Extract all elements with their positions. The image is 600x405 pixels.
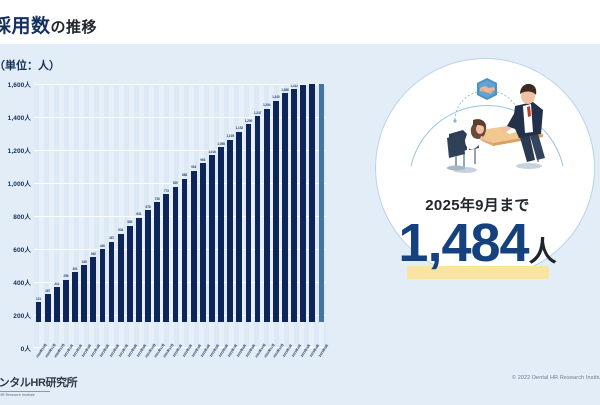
chart-bar[interactable] <box>81 265 87 322</box>
chart-bar[interactable] <box>209 155 215 322</box>
chair-left <box>447 134 465 171</box>
chart-block: （単位：人） 0人200人400人600人800人1,000人1,200人1,4… <box>0 44 350 369</box>
bar-slot: 631 <box>134 84 143 322</box>
y-axis-tick: 200人 <box>13 310 31 320</box>
chart-y-axis: 0人200人400人600人800人1,000人1,200人1,400人1,60… <box>0 84 34 348</box>
header-band: 採用数の推移 <box>0 0 600 44</box>
bar-value-label: 1,340 <box>272 95 279 99</box>
bar-value-label: 583 <box>127 220 132 224</box>
bar-value-label: 1,294 <box>263 103 270 107</box>
handshake-icon <box>477 78 497 100</box>
bar-slot: 1,152 <box>235 84 244 322</box>
bar-slot: 1,484 <box>317 84 326 322</box>
bar-slot: 212 <box>52 84 61 322</box>
chart-bar[interactable] <box>90 257 96 322</box>
y-axis-tick: 1,600人 <box>8 79 31 89</box>
chart-bar[interactable] <box>246 124 252 322</box>
bar-value-label: 1,105 <box>226 134 233 138</box>
bar-value-label: 678 <box>146 205 151 209</box>
bar-slot: 726 <box>153 84 162 322</box>
chart-bar[interactable] <box>118 234 124 322</box>
chart-bar[interactable] <box>182 179 188 322</box>
bar-value-label: 773 <box>164 189 169 193</box>
chart-bar[interactable] <box>36 302 42 322</box>
chart-bar[interactable] <box>282 93 288 322</box>
chart-bar[interactable] <box>200 163 206 322</box>
bar-value-label: 1,152 <box>236 126 243 130</box>
chart-bar[interactable] <box>54 287 60 322</box>
bar-value-label: 1,010 <box>208 150 215 154</box>
bar-slot: 1,058 <box>217 84 226 322</box>
bar-value-label: 534 <box>118 228 123 232</box>
page-title-sub: の推移 <box>51 19 98 36</box>
y-axis-tick: 1,000人 <box>8 178 31 188</box>
bar-slot: 1,340 <box>271 84 280 322</box>
stat-value-number: 1,484 <box>398 213 528 273</box>
chart-bar[interactable] <box>145 210 151 322</box>
y-axis-tick: 800人 <box>13 211 31 221</box>
chart-bar[interactable] <box>236 132 242 322</box>
chart-bar[interactable] <box>319 84 325 322</box>
bar-slot: 1,294 <box>262 84 271 322</box>
bar-slot: 534 <box>116 84 125 322</box>
bar-slot: 1,105 <box>226 84 235 322</box>
bar-slot: 440 <box>98 84 107 322</box>
bar-slot: 773 <box>162 84 171 322</box>
bar-slot: 820 <box>171 84 180 322</box>
bar-slot: 301 <box>71 84 80 322</box>
bar-slot: 487 <box>107 84 116 322</box>
chart-bar[interactable] <box>163 194 169 322</box>
bar-slot: 167 <box>43 84 52 322</box>
chart-bar[interactable] <box>100 249 106 322</box>
footer: デンタルHR研究所 Dental HR Research Institute ©… <box>0 369 600 405</box>
chart-bar[interactable] <box>218 147 224 322</box>
stat-panel: 2025年9月まで 1,484人 <box>355 48 600 348</box>
bar-value-label: 392 <box>91 252 96 256</box>
chart-bar[interactable] <box>109 242 115 322</box>
y-axis-tick: 600人 <box>13 244 31 254</box>
bar-slot: 1,010 <box>207 84 216 322</box>
copyright-text: © 2022 Dental HR Research Institute <box>512 375 600 381</box>
chart-plot-wrapper: 1211672122563013453924404875345836316787… <box>34 84 326 374</box>
bar-value-label: 1,058 <box>217 142 224 146</box>
chart-unit-label: （単位：人） <box>0 57 60 73</box>
bar-slot: 392 <box>89 84 98 322</box>
bar-value-label: 256 <box>63 274 68 278</box>
bar-value-label: 345 <box>82 260 87 264</box>
bar-value-label: 820 <box>173 181 178 185</box>
stat-value: 1,484人 <box>355 216 600 270</box>
bar-value-label: 631 <box>136 212 141 216</box>
bar-value-label: 916 <box>191 165 196 169</box>
page-title-main: 採用数 <box>0 16 51 37</box>
chart-bar[interactable] <box>45 294 51 322</box>
bar-slot: 678 <box>144 84 153 322</box>
bar-value-label: 1,247 <box>254 111 261 115</box>
chart-bar[interactable] <box>72 272 78 322</box>
chart-bar[interactable] <box>191 171 197 322</box>
stat-value-unit: 人 <box>529 236 557 267</box>
y-axis-tick: 1,400人 <box>8 112 31 122</box>
bar-slot: 1,200 <box>244 84 253 322</box>
page-title: 採用数の推移 <box>0 11 97 38</box>
chart-bar[interactable] <box>291 89 297 322</box>
chart-bar[interactable] <box>273 101 279 322</box>
chart-plot-area: 1211672122563013453924404875345836316787… <box>34 84 326 348</box>
chart-bars: 1211672122563013453924404875345836316787… <box>34 84 326 322</box>
chart-bar[interactable] <box>264 109 270 323</box>
bar-value-label: 487 <box>109 236 114 240</box>
bar-value-label: 121 <box>36 297 41 301</box>
bar-slot: 583 <box>125 84 134 322</box>
bar-slot: 121 <box>34 84 43 322</box>
chart-bar[interactable] <box>173 187 179 322</box>
bar-value-label: 868 <box>182 173 187 177</box>
chart-bar[interactable] <box>136 218 142 322</box>
bar-slot: 1,438 <box>299 84 308 322</box>
chart-bar[interactable] <box>255 116 261 322</box>
bar-slot: 963 <box>198 84 207 322</box>
slide-canvas: 採用数の推移 （単位：人） 0人200人400人600人800人1,000人1,… <box>0 0 600 405</box>
bar-slot: 916 <box>189 84 198 322</box>
bar-slot: 1,460 <box>308 84 317 322</box>
chart-bar[interactable] <box>227 140 233 322</box>
brand-logo: デンタルHR研究所 Dental HR Research Institute <box>0 374 68 397</box>
stat-date-label: 2025年9月まで <box>355 194 600 215</box>
chart-bar[interactable] <box>300 85 306 322</box>
bar-slot: 1,247 <box>253 84 262 322</box>
bar-value-label: 167 <box>45 289 50 293</box>
chart-bar[interactable] <box>63 280 69 322</box>
chart-bar[interactable] <box>309 84 315 322</box>
bar-value-label: 1,200 <box>245 119 252 123</box>
chart-bar[interactable] <box>127 226 133 322</box>
bar-value-label: 726 <box>155 197 160 201</box>
bar-value-label: 440 <box>100 244 105 248</box>
y-axis-tick: 400人 <box>13 277 31 287</box>
bar-slot: 1,386 <box>280 84 289 322</box>
bar-value-label: 963 <box>200 158 205 162</box>
bar-value-label: 212 <box>54 282 59 286</box>
brand-logo-rule <box>0 391 50 392</box>
chart-bar[interactable] <box>154 202 160 322</box>
bar-slot: 256 <box>61 84 70 322</box>
bar-slot: 1,412 <box>290 84 299 322</box>
interview-illustration <box>407 62 567 180</box>
bar-value-label: 1,386 <box>281 88 288 92</box>
y-axis-tick: 1,200人 <box>8 145 31 155</box>
brand-logo-main: デンタルHR研究所 <box>0 374 68 390</box>
bar-slot: 345 <box>80 84 89 322</box>
bar-value-label: 301 <box>73 267 78 271</box>
brand-logo-sub: Dental HR Research Institute <box>0 393 68 397</box>
bar-slot: 868 <box>180 84 189 322</box>
bar-value-label: 1,412 <box>290 84 297 88</box>
y-axis-tick: 0人 <box>21 343 31 353</box>
